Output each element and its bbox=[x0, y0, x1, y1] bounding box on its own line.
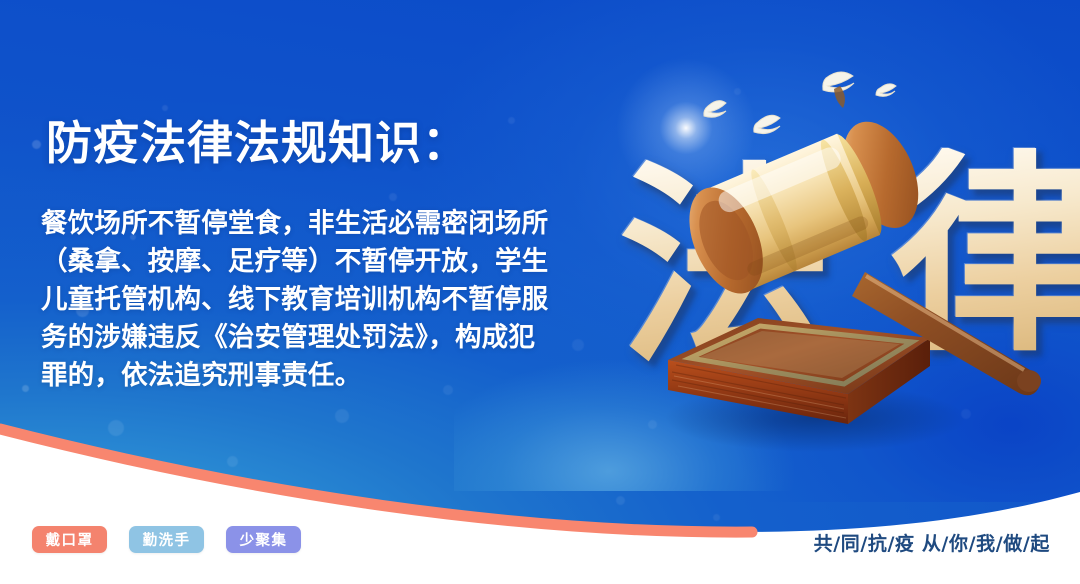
slogan-text: 共/同/抗/疫 从/你/我/做/起 bbox=[814, 529, 1050, 556]
tag-wash-hands[interactable]: 勤洗手 bbox=[129, 526, 204, 553]
page-title: 防疫法律法规知识： bbox=[46, 119, 469, 169]
tag-wear-mask-label: 戴口罩 bbox=[46, 529, 94, 550]
tag-avoid-gathering-label: 少聚集 bbox=[240, 529, 288, 550]
prevention-tag-list: 戴口罩 勤洗手 少聚集 bbox=[32, 526, 301, 553]
dove-icon bbox=[690, 52, 920, 167]
poster-canvas: 法 律 法 律 bbox=[0, 0, 1080, 584]
tag-wash-hands-label: 勤洗手 bbox=[143, 529, 191, 550]
body-paragraph: 餐饮场所不暂停堂食，非生活必需密闭场所（桑拿、按摩、足疗等）不暂停开放，学生儿童… bbox=[41, 205, 553, 395]
tag-avoid-gathering[interactable]: 少聚集 bbox=[226, 526, 301, 553]
tag-wear-mask[interactable]: 戴口罩 bbox=[32, 526, 107, 553]
